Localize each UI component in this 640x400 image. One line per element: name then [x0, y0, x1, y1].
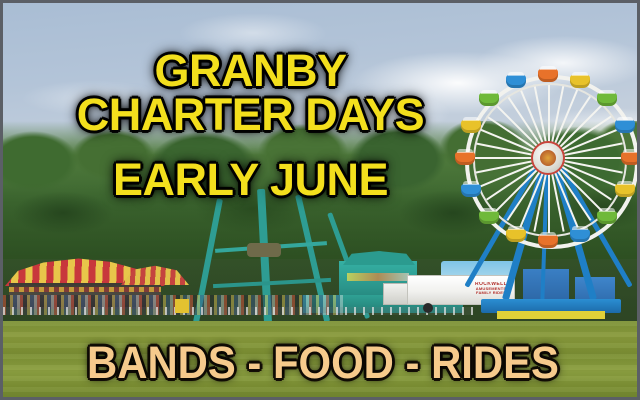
headline-line-3: EARLY JUNE: [3, 158, 498, 202]
headline-line-1: GRANBY: [3, 49, 498, 93]
trailer-cab: [383, 283, 409, 305]
ferris-wheel-gondola: [615, 184, 635, 197]
ferris-wheel-gondola: [570, 75, 590, 88]
ferris-wheel-gondola: [615, 120, 635, 133]
ferris-wheel-gondola: [597, 211, 617, 224]
safety-railing: [3, 307, 473, 315]
ferris-wheel-gondola: [538, 69, 558, 82]
tagline: BANDS - FOOD - RIDES: [25, 337, 620, 389]
headline-block: GRANBY CHARTER DAYS EARLY JUNE: [3, 49, 498, 202]
ride-crossbeam: [213, 278, 331, 288]
ferris-wheel-gondola: [506, 229, 526, 242]
ride-gondola: [247, 243, 281, 257]
ferris-wheel-gondola: [538, 235, 558, 248]
headline-line-2: CHARTER DAYS: [3, 93, 498, 137]
ferris-wheel-gondola: [506, 75, 526, 88]
ferris-wheel-gondola: [597, 93, 617, 106]
ferris-wheel-hub: [531, 141, 565, 175]
yellow-bin: [175, 299, 189, 313]
ferris-wheel-gondola: [570, 229, 590, 242]
ferris-wheel-platform: [497, 311, 605, 319]
event-banner: ROCKWELL AMUSEMENTS FAMILY RIDES SINCE G…: [0, 0, 640, 400]
ferris-wheel-gondola: [479, 211, 499, 224]
trailer-wheel: [423, 303, 433, 313]
ferris-wheel-gondola: [621, 152, 640, 165]
